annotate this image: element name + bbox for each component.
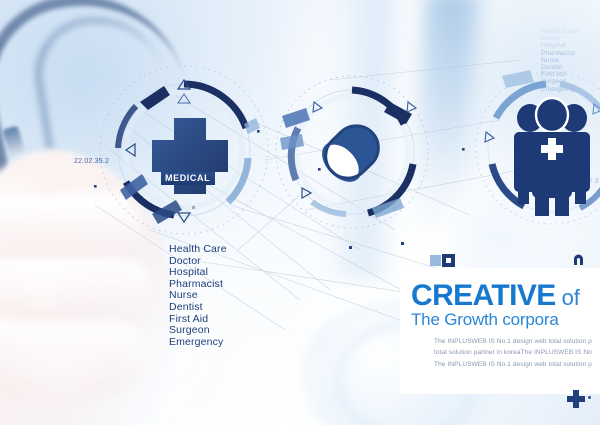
medical-team-icon: [514, 98, 590, 216]
body-line: The INPLUSWEB IS No.1 design web total s…: [434, 336, 600, 347]
keyword-item-faint: Surgeon: [541, 78, 577, 85]
plus-cross-marker-icon: [565, 388, 587, 410]
body-line: total solution partner in koreaThe INPLU…: [434, 347, 600, 358]
keyword-item-faint: Pharmacist: [541, 50, 577, 57]
headline-tail: of: [562, 285, 580, 310]
hud-code-left: 22.02.35.2: [74, 158, 109, 165]
hud-circle-cross: [96, 62, 272, 238]
corner-dot: [588, 396, 591, 399]
panel-body-copy: The INPLUSWEB IS No.1 design web total s…: [434, 336, 600, 370]
keyword-item-faint: Emergency: [541, 86, 577, 93]
arch-mark-icon: [572, 253, 585, 266]
hero-banner: MEDICAL 22.02.35.2 22.02.3: [0, 0, 600, 425]
keyword-item-faint: Health Care: [541, 28, 577, 35]
headline-main: CREATIVE: [411, 279, 556, 312]
keyword-item-faint: Doctor: [541, 35, 577, 42]
keyword-item: Dentist: [169, 302, 227, 314]
panel-headline: CREATIVEof: [411, 281, 580, 311]
headline-subtitle: The Growth corpora: [411, 311, 559, 329]
keyword-item: Surgeon: [169, 325, 227, 337]
keyword-item-faint: Nurse: [541, 57, 577, 64]
body-line: The INPLUSWEB IS No.1 design web total s…: [434, 359, 600, 370]
keyword-item-faint: First Aid: [541, 71, 577, 78]
keyword-list-faint: Health Care Doctor Hospital Pharmacist N…: [541, 28, 577, 93]
hud-chip-badge: [430, 254, 456, 267]
keyword-list: Health Care Doctor Hospital Pharmacist N…: [169, 244, 227, 348]
hud-circle-team: [472, 68, 600, 228]
medical-badge: MEDICAL: [161, 172, 215, 185]
keyword-item-faint: Hospital: [541, 42, 577, 49]
hud-circle-capsule: [272, 72, 432, 232]
keyword-item: Emergency: [169, 337, 227, 349]
pill-capsule-icon: [317, 117, 388, 188]
keyword-item: Health Care: [169, 244, 227, 256]
keyword-item-faint: Dentist: [541, 64, 577, 71]
